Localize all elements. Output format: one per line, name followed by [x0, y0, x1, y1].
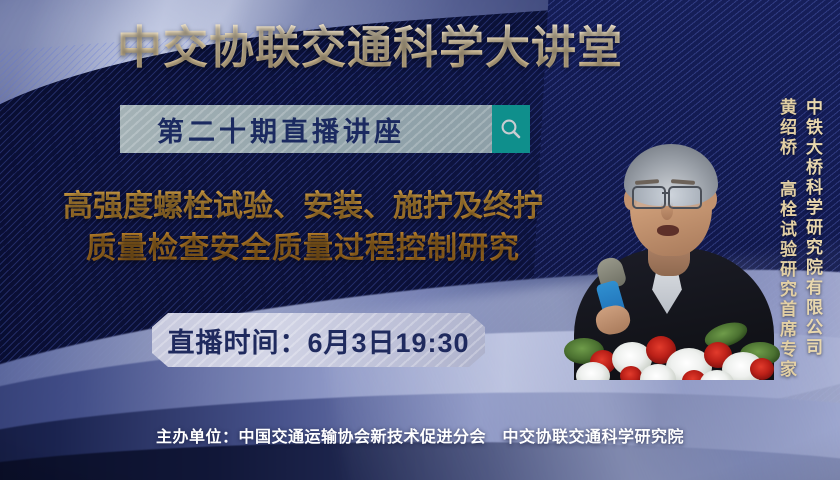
search-button[interactable]: [492, 105, 530, 153]
subtitle-label: 第二十期直播讲座: [157, 110, 455, 149]
flower-bouquet: [556, 308, 786, 380]
promo-banner: 中交协联交通科学大讲堂 第二十期直播讲座 高强度螺栓试验、安装、施拧及终拧 质量…: [0, 0, 840, 480]
headline-line-2: 质量检查安全质量过程控制研究: [0, 228, 606, 270]
subtitle-bar: 第二十期直播讲座: [120, 105, 530, 153]
speaker-credits: 黄绍桥 高栓试验研究首席专家 中铁大桥科学研究院有限公司: [776, 98, 822, 380]
main-title: 中交协联交通科学大讲堂: [0, 20, 740, 76]
subtitle-plate: 第二十期直播讲座: [120, 105, 492, 153]
broadcast-time-badge: 直播时间：6月3日19:30: [152, 313, 485, 367]
portrait-eyeglass-bridge: [662, 192, 670, 194]
speaker-name-and-role: 黄绍桥 高栓试验研究首席专家: [776, 98, 796, 380]
portrait-mouth: [657, 225, 679, 236]
broadcast-time-label: 直播时间：6月3日19:30: [167, 321, 469, 360]
portrait-nose: [661, 202, 673, 220]
headline-line-1: 高强度螺栓试验、安装、施拧及终拧: [0, 186, 606, 228]
speaker-organization: 中铁大桥科学研究院有限公司: [802, 98, 822, 358]
portrait-eyeglass-right: [668, 186, 702, 209]
footer-organizers: 主办单位：中国交通运输协会新技术促进分会 中交协联交通科学研究院: [0, 423, 840, 447]
headline: 高强度螺栓试验、安装、施拧及终拧 质量检查安全质量过程控制研究: [0, 186, 606, 270]
search-icon: [499, 117, 523, 141]
